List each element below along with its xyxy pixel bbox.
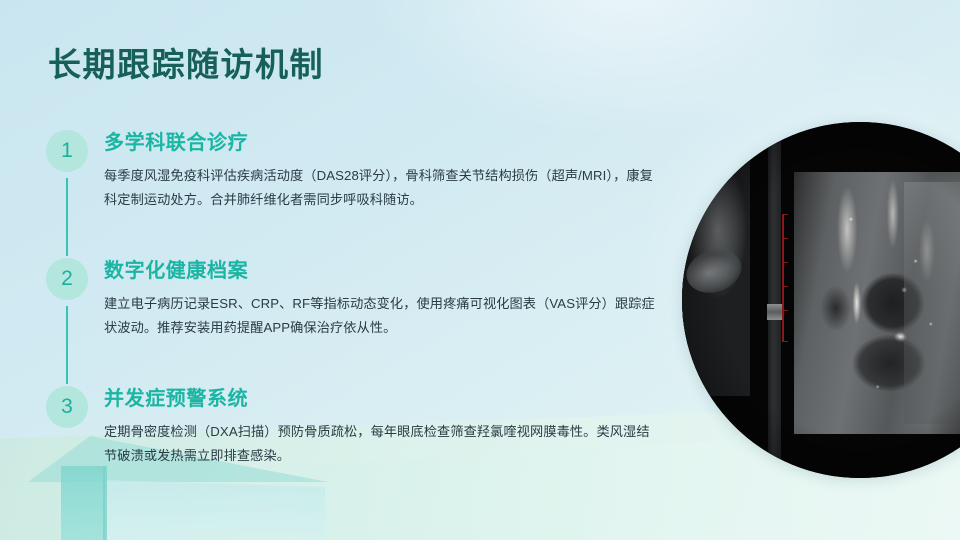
cube-right-face (105, 480, 325, 540)
list-item-content: 数字化健康档案 建立电子病历记录ESR、CRP、RF等指标动态变化，使用疼痛可视… (104, 258, 666, 341)
timeline-connector (66, 178, 68, 256)
page-title: 长期跟踪随访机制 (48, 38, 324, 86)
list-item-body: 定期骨密度检测（DXA扫描）预防骨质疏松，每年眼底检查筛查羟氯喹视网膜毒性。类风… (104, 420, 662, 469)
list-item: 2 数字化健康档案 建立电子病历记录ESR、CRP、RF等指标动态变化，使用疼痛… (46, 258, 666, 384)
list-item: 1 多学科联合诊疗 每季度风湿免疫科评估疾病活动度（DAS28评分），骨科筛查关… (46, 130, 666, 256)
timeline-connector (66, 306, 68, 384)
list-item: 3 并发症预警系统 定期骨密度检测（DXA扫描）预防骨质疏松，每年眼底检查筛查羟… (46, 386, 666, 486)
slide-canvas: 长期跟踪随访机制 1 多学科联合诊疗 每季度风湿免疫科评估疾病活动度（DAS28… (0, 0, 960, 540)
list-item-body: 每季度风湿免疫科评估疾病活动度（DAS28评分），骨科筛查关节结构损伤（超声/M… (104, 164, 662, 213)
mri-image (682, 122, 960, 478)
mri-vignette (682, 122, 960, 478)
step-number-badge: 2 (46, 258, 88, 300)
glow-top (365, 0, 885, 140)
list-item-title: 并发症预警系统 (104, 386, 666, 412)
list-item-body: 建立电子病历记录ESR、CRP、RF等指标动态变化，使用疼痛可视化图表（VAS评… (104, 292, 662, 341)
list-item-title: 数字化健康档案 (104, 258, 666, 284)
list-item-content: 多学科联合诊疗 每季度风湿免疫科评估疾病活动度（DAS28评分），骨科筛查关节结… (104, 130, 666, 213)
list-item-content: 并发症预警系统 定期骨密度检测（DXA扫描）预防骨质疏松，每年眼底检查筛查羟氯喹… (104, 386, 666, 469)
step-number-badge: 1 (46, 130, 88, 172)
list-item-title: 多学科联合诊疗 (104, 130, 666, 156)
step-number-badge: 3 (46, 386, 88, 428)
timeline-list: 1 多学科联合诊疗 每季度风湿免疫科评估疾病活动度（DAS28评分），骨科筛查关… (46, 128, 666, 486)
